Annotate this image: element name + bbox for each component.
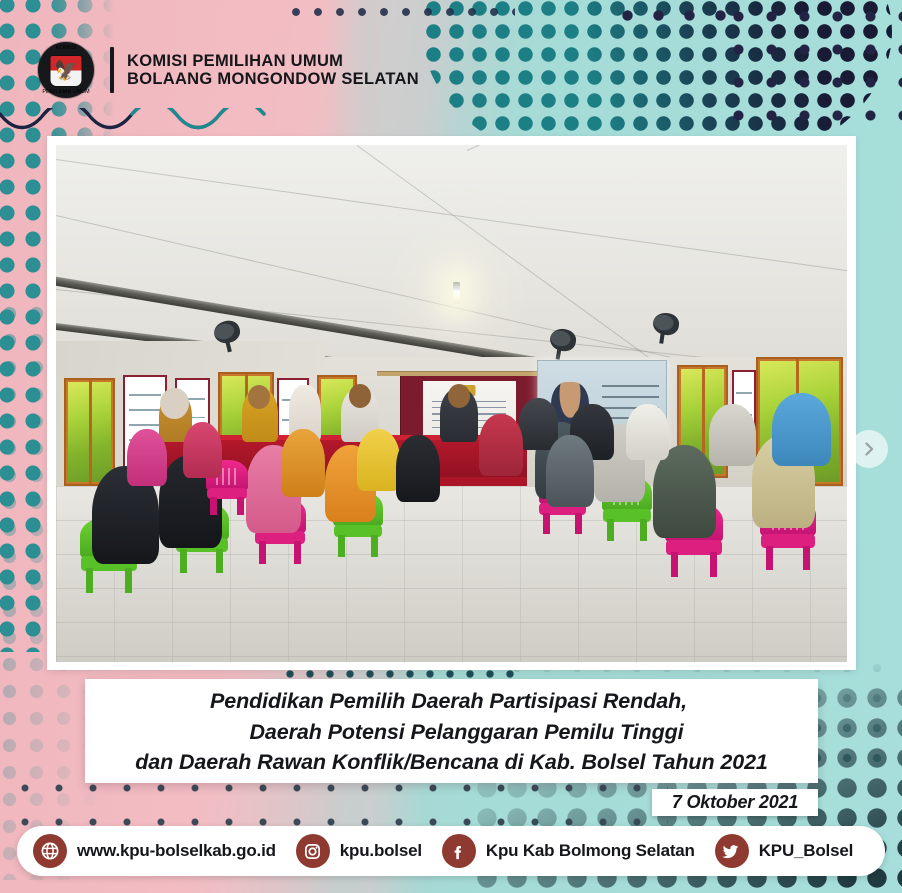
carousel-next-button[interactable] — [850, 430, 888, 468]
ceiling-light-bulb — [453, 282, 460, 304]
social-instagram-label: kpu.bolsel — [340, 841, 422, 861]
chevron-right-icon — [861, 441, 877, 457]
social-facebook-label: Kpu Kab Bolmong Selatan — [486, 841, 695, 861]
brand-divider — [110, 47, 114, 93]
brand-lockup: KOMISI 🦅 PEMILIHAN UMUM KOMISI PEMILIHAN… — [38, 42, 419, 98]
caption-line-1: Pendidikan Pemilih Daerah Partisipasi Re… — [210, 686, 693, 717]
caption-card: Pendidikan Pemilih Daerah Partisipasi Re… — [85, 679, 818, 783]
logo-ring-bottom-text: PEMILIHAN UMUM — [38, 89, 94, 95]
social-website[interactable]: www.kpu-bolselkab.go.id — [33, 834, 276, 868]
logo-shield: 🦅 — [50, 55, 83, 87]
social-footer-bar: www.kpu-bolselkab.go.id kpu.bolsel Kpu K… — [17, 826, 885, 876]
facebook-icon — [442, 834, 476, 868]
attendee — [709, 404, 756, 466]
website-globe-icon — [33, 834, 67, 868]
attendee — [127, 429, 167, 486]
banner-rail — [377, 371, 563, 376]
attendee-white-cap — [626, 404, 670, 461]
garuda-glyph-icon: 🦅 — [54, 61, 78, 80]
social-twitter-label: KPU_Bolsel — [759, 841, 853, 861]
twitter-icon — [715, 834, 749, 868]
social-twitter[interactable]: KPU_Bolsel — [715, 834, 853, 868]
caption-line-2: Daerah Potensi Pelanggaran Pemilu Tinggi — [219, 717, 683, 748]
date-badge: 7 Oktober 2021 — [652, 789, 818, 816]
institution-name-line-1: KOMISI PEMILIHAN UMUM — [127, 52, 419, 70]
caption-line-3: dan Daerah Rawan Konflik/Bencana di Kab.… — [135, 747, 768, 778]
social-website-label: www.kpu-bolselkab.go.id — [77, 841, 276, 861]
panelist-4-head — [448, 384, 470, 408]
instagram-icon — [296, 834, 330, 868]
post-photo-frame — [47, 136, 856, 670]
social-instagram[interactable]: kpu.bolsel — [296, 834, 422, 868]
post-photo — [56, 145, 847, 662]
kpu-garuda-logo-icon: KOMISI 🦅 PEMILIHAN UMUM — [38, 42, 94, 98]
attendee — [183, 422, 223, 479]
window-left-1 — [64, 378, 115, 487]
decorative-wave-line — [0, 108, 270, 134]
institution-name-line-2: BOLAANG MONGONDOW SELATAN — [127, 70, 419, 88]
institution-name: KOMISI PEMILIHAN UMUM BOLAANG MONGONDOW … — [127, 52, 419, 89]
attendee — [396, 435, 440, 502]
attendee — [546, 435, 593, 507]
poster-header: KOMISI 🦅 PEMILIHAN UMUM KOMISI PEMILIHAN… — [0, 0, 902, 132]
panelist-3-head — [349, 384, 371, 408]
social-facebook[interactable]: Kpu Kab Bolmong Selatan — [442, 834, 695, 868]
attendee — [357, 429, 401, 491]
panelist-1-hijab — [160, 388, 188, 419]
attendee — [519, 398, 559, 450]
attendee — [479, 414, 523, 476]
date-badge-text: 7 Oktober 2021 — [672, 792, 798, 813]
logo-ring-top-text: KOMISI — [38, 45, 94, 51]
attendee-blue-shirt — [772, 393, 831, 465]
attendee — [281, 429, 325, 496]
instagram-post-image: KOMISI 🦅 PEMILIHAN UMUM KOMISI PEMILIHAN… — [0, 0, 902, 893]
